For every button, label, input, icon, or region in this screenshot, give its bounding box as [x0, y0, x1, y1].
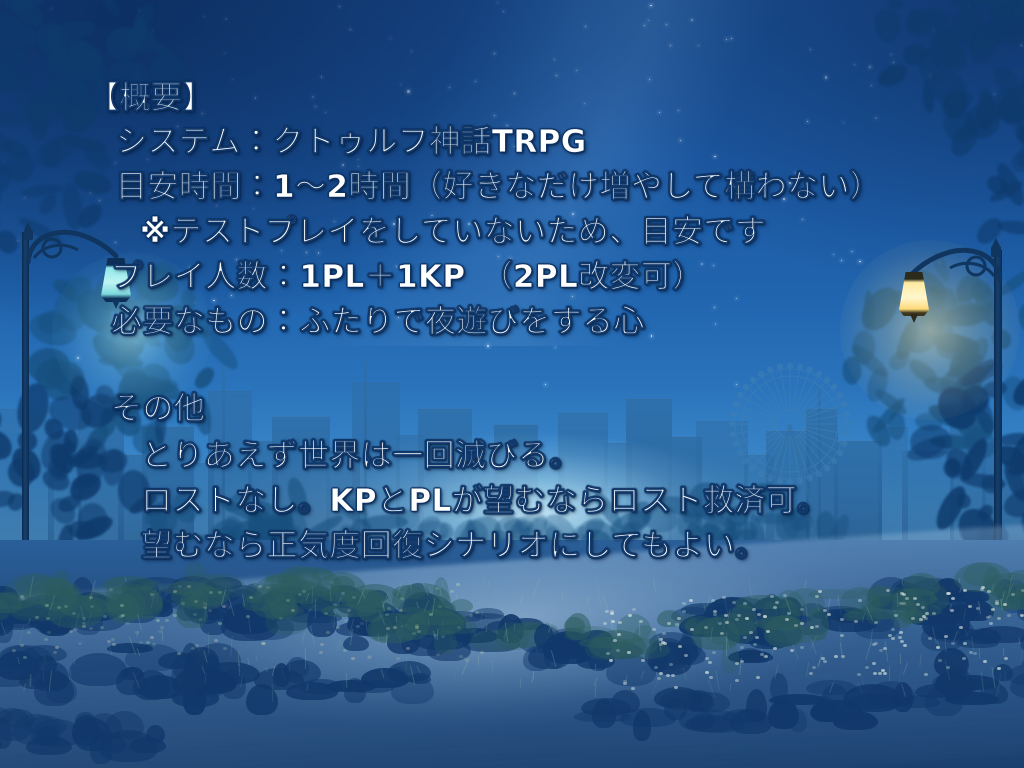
overview-line-system: システム：クトゥルフ神話TRPG: [116, 127, 587, 158]
slide-text-block: 【概要】 システム：クトゥルフ神話TRPG 目安時間：1～2時間（好きなだけ増や…: [0, 0, 1024, 768]
other-line-sanity: 望むなら正気度回復シナリオにしてもよい。: [141, 531, 767, 562]
overview-line-players: プレイ人数：1PL＋1KP （2PL改変可）: [111, 262, 704, 293]
overview-line-note: ※テストプレイをしていないため、目安です: [140, 217, 766, 248]
overview-line-requirements: 必要なもの：ふたりで夜遊びをする心: [111, 307, 645, 338]
other-line-world: とりあえず世界は一回滅びる。: [141, 441, 581, 472]
overview-heading: 【概要】: [88, 83, 214, 114]
overview-line-duration: 目安時間：1～2時間（好きなだけ増やして構わない）: [116, 172, 881, 203]
slide-canvas: 【概要】 システム：クトゥルフ神話TRPG 目安時間：1～2時間（好きなだけ増や…: [0, 0, 1024, 768]
other-heading: その他: [111, 394, 205, 425]
other-line-lost: ロストなし。KPとPLが望むならロスト救済可。: [141, 486, 828, 517]
